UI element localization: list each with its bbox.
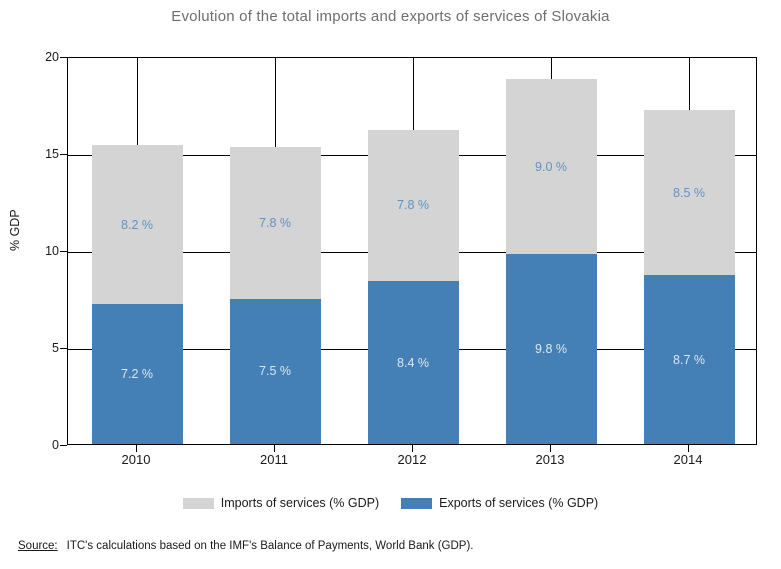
bar-segment-imports-2012[interactable]: 7.8 % (368, 130, 459, 281)
source-note: Source: ITC's calculations based on the … (18, 540, 474, 552)
x-tick-label-2011: 2011 (214, 452, 334, 467)
x-tick-mark (136, 445, 137, 452)
legend-label: Imports of services (% GDP) (221, 496, 379, 510)
x-tick-mark (412, 445, 413, 452)
x-tick-label-2012: 2012 (352, 452, 472, 467)
y-tick-mark (60, 251, 67, 252)
y-tick-mark (60, 348, 67, 349)
bar-value-label: 9.0 % (506, 160, 597, 174)
bar-value-label: 7.2 % (92, 367, 183, 381)
source-text: ITC's calculations based on the IMF's Ba… (67, 540, 474, 552)
y-tick-mark (60, 57, 67, 58)
bar-value-label: 7.8 % (368, 198, 459, 212)
bar-value-label: 7.5 % (230, 364, 321, 378)
bar-group-2013[interactable]: 9.8 %9.0 % (506, 56, 597, 444)
y-tick-label: 5 (19, 341, 59, 355)
y-tick-mark (60, 445, 67, 446)
bar-group-2012[interactable]: 8.4 %7.8 % (368, 56, 459, 444)
bar-group-2010[interactable]: 7.2 %8.2 % (92, 56, 183, 444)
legend-item-exports[interactable]: Exports of services (% GDP) (401, 496, 598, 510)
bar-segment-imports-2010[interactable]: 8.2 % (92, 145, 183, 304)
x-tick-label-2014: 2014 (628, 452, 748, 467)
x-tick-label-2010: 2010 (76, 452, 196, 467)
bar-value-label: 8.5 % (644, 186, 735, 200)
y-tick-mark (60, 154, 67, 155)
bar-value-label: 8.7 % (644, 353, 735, 367)
bar-segment-exports-2013[interactable]: 9.8 % (506, 254, 597, 444)
bar-group-2011[interactable]: 7.5 %7.8 % (230, 56, 321, 444)
bar-segment-exports-2014[interactable]: 8.7 % (644, 275, 735, 444)
bar-segment-imports-2011[interactable]: 7.8 % (230, 147, 321, 298)
source-label: Source: (18, 540, 58, 552)
y-tick-label: 20 (19, 50, 59, 64)
bar-value-label: 9.8 % (506, 342, 597, 356)
chart-legend: Imports of services (% GDP)Exports of se… (0, 496, 781, 510)
bar-group-2014[interactable]: 8.7 %8.5 % (644, 56, 735, 444)
bar-segment-exports-2011[interactable]: 7.5 % (230, 299, 321, 445)
bar-value-label: 8.2 % (92, 218, 183, 232)
x-tick-mark (688, 445, 689, 452)
plot-area: 7.2 %8.2 %7.5 %7.8 %8.4 %7.8 %9.8 %9.0 %… (67, 57, 757, 445)
bar-segment-imports-2013[interactable]: 9.0 % (506, 79, 597, 254)
y-tick-label: 15 (19, 147, 59, 161)
x-tick-label-2013: 2013 (490, 452, 610, 467)
bar-segment-exports-2010[interactable]: 7.2 % (92, 304, 183, 444)
legend-item-imports[interactable]: Imports of services (% GDP) (183, 496, 379, 510)
legend-label: Exports of services (% GDP) (439, 496, 598, 510)
legend-swatch-icon (401, 498, 432, 509)
bar-segment-exports-2012[interactable]: 8.4 % (368, 281, 459, 444)
chart-figure: Evolution of the total imports and expor… (0, 0, 781, 569)
legend-swatch-icon (183, 498, 214, 509)
bar-value-label: 8.4 % (368, 356, 459, 370)
x-tick-mark (274, 445, 275, 452)
bar-segment-imports-2014[interactable]: 8.5 % (644, 110, 735, 275)
chart-title: Evolution of the total imports and expor… (0, 8, 781, 25)
y-tick-label: 10 (19, 244, 59, 258)
y-tick-label: 0 (19, 438, 59, 452)
x-tick-mark (550, 445, 551, 452)
bar-value-label: 7.8 % (230, 216, 321, 230)
